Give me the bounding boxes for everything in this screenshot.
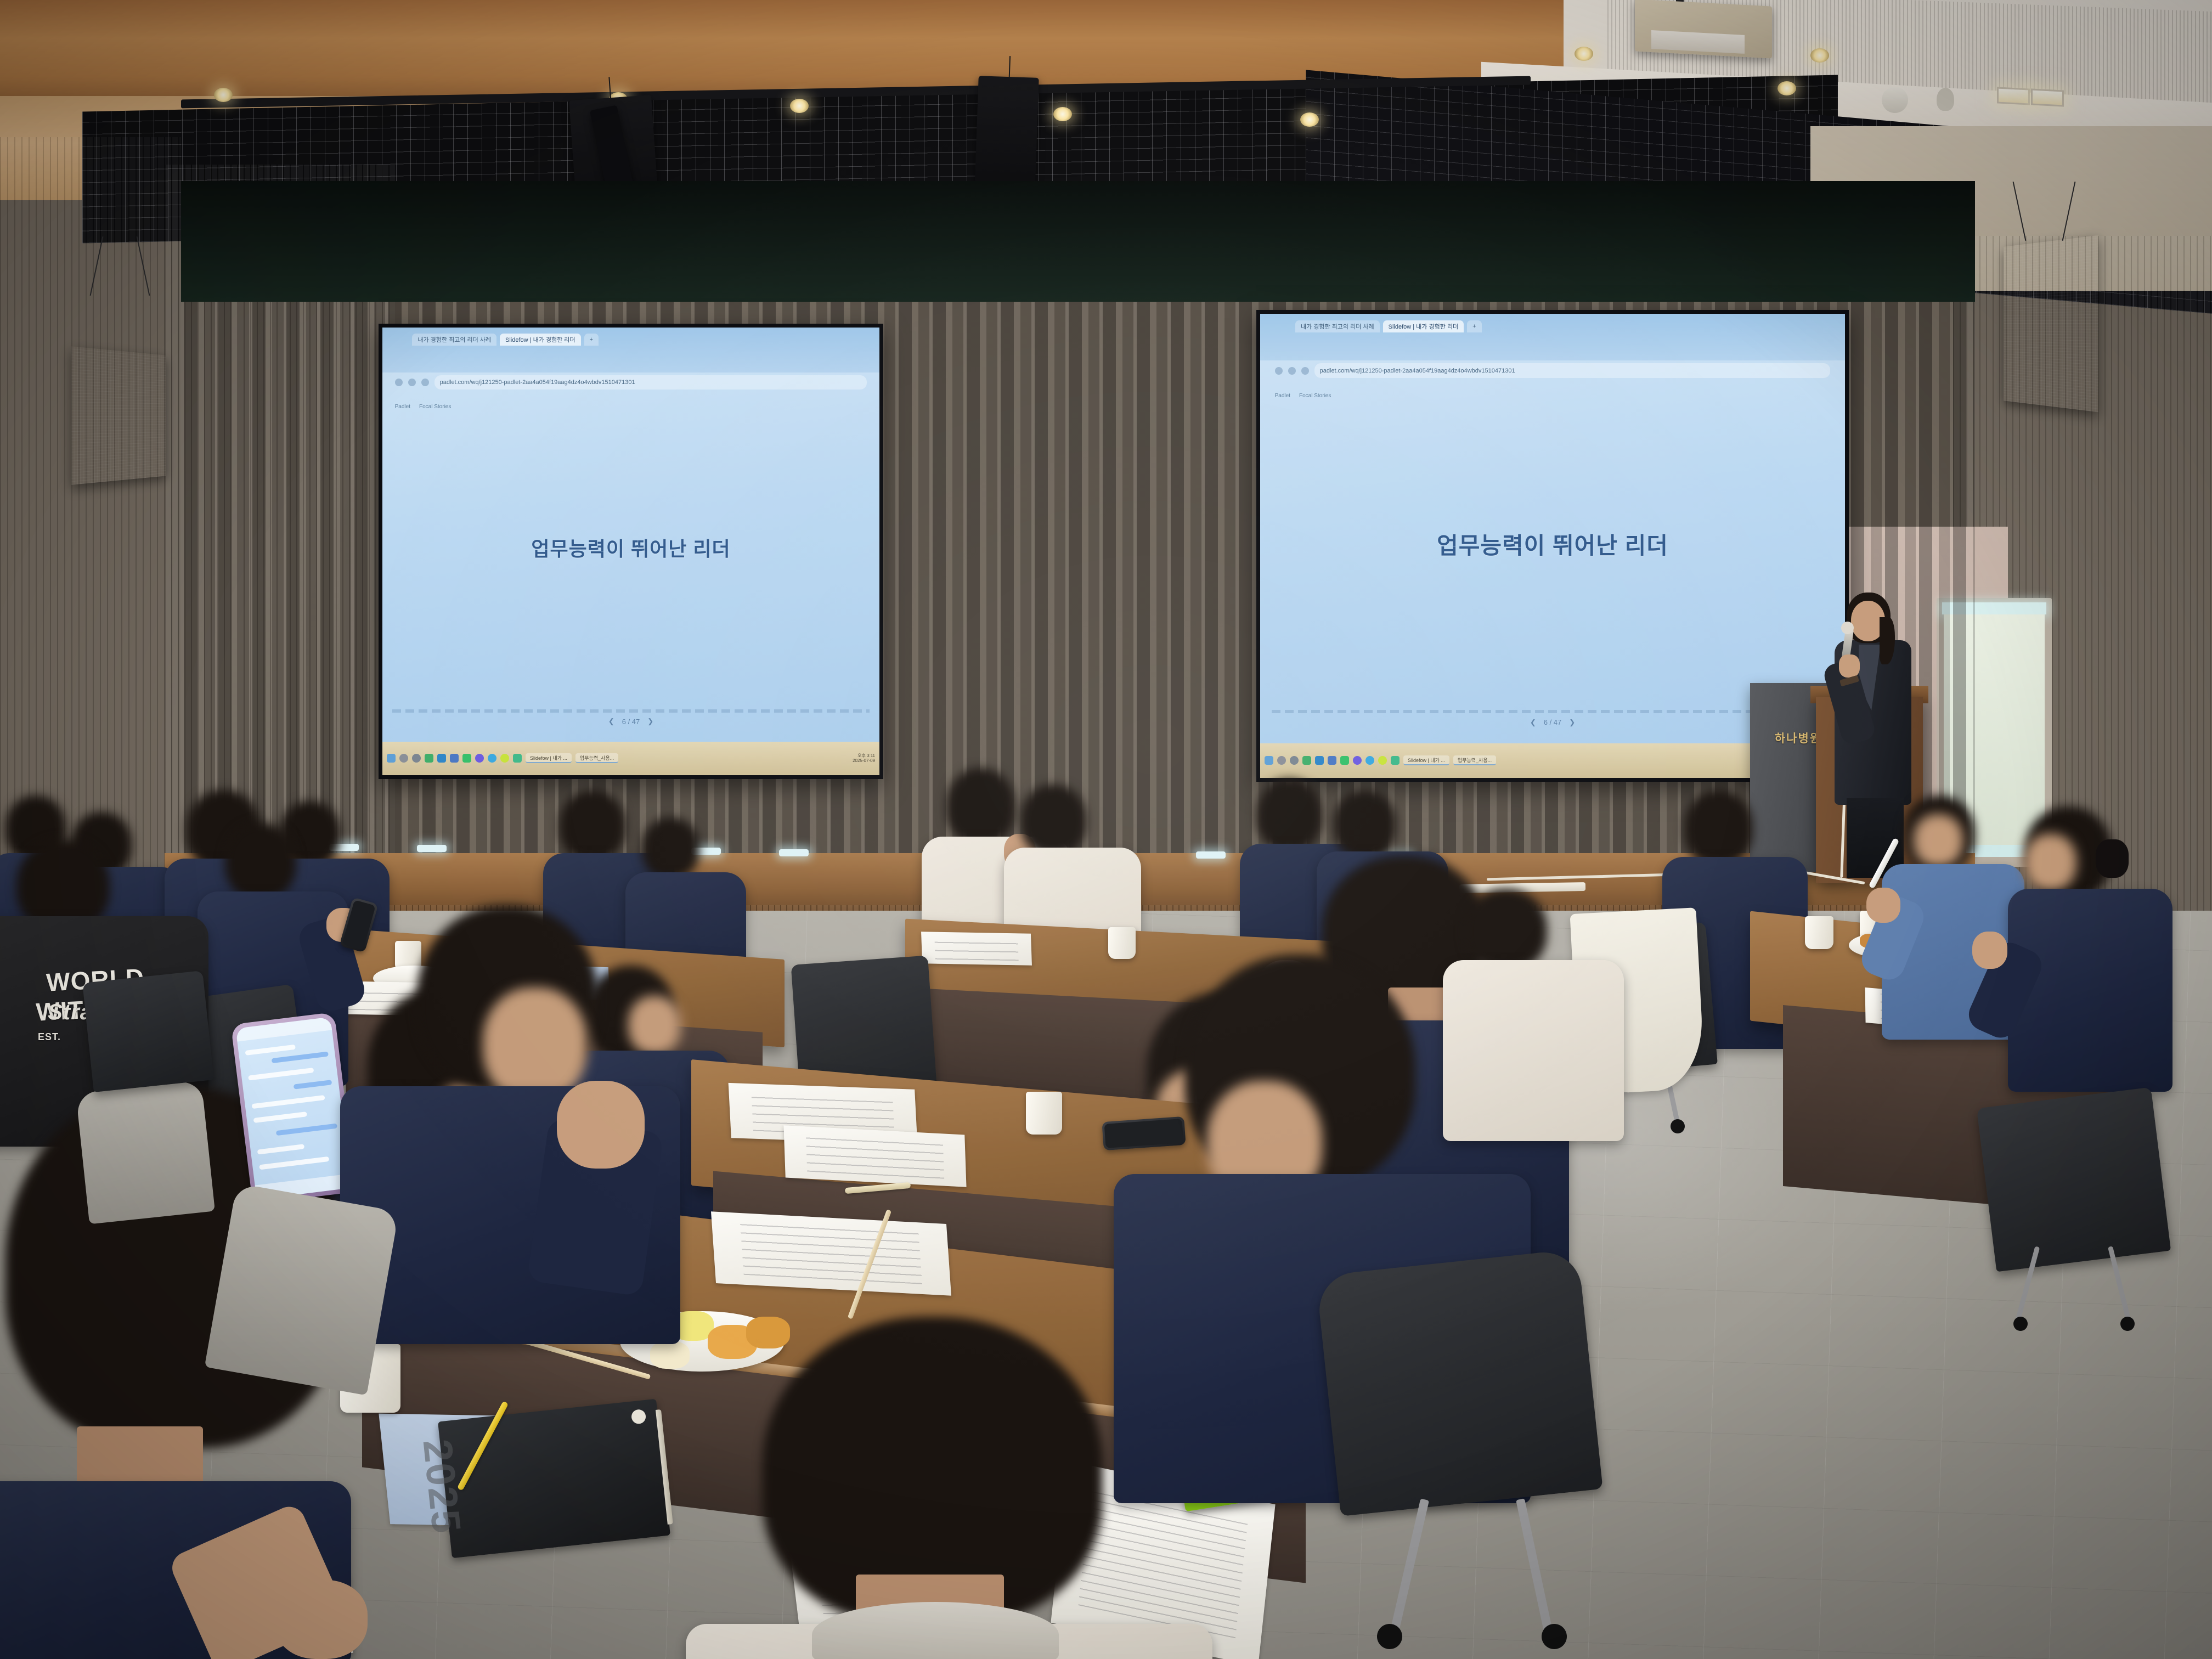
recessed-ceiling-light: [1997, 87, 2030, 105]
attendee-face-blurred: [2024, 834, 2076, 891]
chat-bubble: [248, 1068, 314, 1081]
chair-caster: [2013, 1317, 2028, 1331]
stage-light-fixture: [974, 76, 1039, 196]
new-tab-button[interactable]: +: [584, 334, 599, 346]
next-slide-icon[interactable]: ❯: [1569, 718, 1575, 727]
taskbar-app-icon[interactable]: [1340, 756, 1349, 765]
browser-address-row: padlet.com/wq/j121250-padlet-2aa4a054f19…: [395, 373, 867, 393]
browser-tabstrip: 내가 경험한 최고의 리더 사례 Slidefow | 내가 경험한 리더 +: [1295, 320, 1482, 332]
attendee-hand: [274, 1580, 368, 1659]
attendee-hair-tie: [2096, 839, 2129, 878]
chat-bubble: [253, 1111, 307, 1123]
slide-navigation: ❮ 6 / 47 ❯: [382, 717, 879, 726]
paper-handout: [711, 1211, 951, 1295]
attendee-face-blurred: [483, 988, 587, 1103]
ceiling-spotlight: [1053, 107, 1072, 121]
taskbar-app-icon[interactable]: [1328, 756, 1336, 765]
ceiling-projector: [1635, 0, 1772, 59]
address-bar[interactable]: padlet.com/wq/j121250-padlet-2aa4a054f19…: [435, 375, 867, 390]
seminar-room-photo: 내가 경험한 최고의 리더 사례 Slidefow | 내가 경험한 리더 + …: [0, 0, 2212, 1659]
ceiling-spotlight: [214, 88, 233, 102]
right-pa-speaker: [2004, 235, 2098, 412]
prev-slide-icon[interactable]: ❮: [608, 717, 614, 726]
taskbar-window-button[interactable]: Slidefow | 내가 ...: [526, 753, 572, 763]
forward-icon[interactable]: [1288, 367, 1296, 375]
browser-address-row: padlet.com/wq/j121250-padlet-2aa4a054f19…: [1275, 360, 1831, 381]
taskbar-app-icon[interactable]: [1302, 756, 1311, 765]
stage-curtain-shadow: [181, 181, 1975, 302]
bookmarks-bar: Padlet Focal Stories: [1275, 393, 1331, 399]
bookmark-item[interactable]: Padlet: [395, 404, 410, 410]
taskbar-clock[interactable]: 오후 3:11 2025-07-09: [853, 753, 875, 764]
taskbar-window-button[interactable]: 업무능력_사용...: [575, 753, 618, 763]
back-icon[interactable]: [1275, 367, 1283, 375]
slide-counter: 6 / 47: [622, 718, 640, 726]
browser-tab-active[interactable]: Slidefow | 내가 경험한 리더: [500, 334, 581, 346]
black-planner-2025[interactable]: 2025: [438, 1399, 670, 1558]
attendee-torso: [2008, 889, 2172, 1092]
taskbar-app-icon[interactable]: [450, 754, 459, 763]
browser-tab[interactable]: 내가 경험한 최고의 리더 사례: [412, 334, 496, 346]
taskbar-app-icon[interactable]: [1365, 756, 1374, 765]
taskbar-search-icon[interactable]: [1277, 756, 1286, 765]
browser-tab[interactable]: 내가 경험한 최고의 리더 사례: [1295, 320, 1380, 332]
prev-slide-icon[interactable]: ❮: [1530, 718, 1536, 727]
taskbar-app-icon[interactable]: [513, 754, 522, 763]
stage-floor-light: [1196, 851, 1226, 859]
attendee-head: [560, 790, 625, 861]
browser-tab-active[interactable]: Slidefow | 내가 경험한 리더: [1383, 320, 1464, 332]
office-chair-foreground[interactable]: [1316, 1249, 1602, 1516]
taskbar-window-button[interactable]: Slidefow | 내가 ...: [1403, 755, 1449, 765]
attendee-hand: [1972, 932, 2007, 969]
taskbar-taskview-icon[interactable]: [412, 754, 421, 763]
browser-tabstrip: 내가 경험한 최고의 리더 사례 Slidefow | 내가 경험한 리더 +: [412, 334, 599, 346]
bookmark-item[interactable]: Padlet: [1275, 393, 1290, 399]
attendee-head: [1333, 790, 1396, 859]
taskbar-app-icon[interactable]: [1315, 756, 1324, 765]
attendee-closest-white-shirt: [675, 1317, 1223, 1659]
slide-counter: 6 / 47: [1544, 718, 1562, 726]
taskbar-app-icon[interactable]: [488, 754, 496, 763]
taskbar-taskview-icon[interactable]: [1290, 756, 1299, 765]
grey-chair-foreground[interactable]: [205, 1183, 399, 1396]
presenter-hand: [1839, 654, 1860, 678]
paper-handout: [783, 1125, 966, 1187]
chat-bubble: [245, 1045, 296, 1056]
office-chair[interactable]: [82, 970, 214, 1092]
attendee-head: [1020, 785, 1086, 856]
grey-chair[interactable]: [76, 1080, 215, 1224]
chair-caster: [1377, 1624, 1402, 1649]
microphone-head-icon: [1841, 622, 1854, 634]
planner-brand-icon: [631, 1409, 647, 1425]
ceiling-sprinkler: [1937, 88, 1954, 111]
stage-floor-light: [417, 845, 447, 852]
ceiling-spotlight: [790, 99, 809, 113]
bookmark-item[interactable]: Focal Stories: [419, 404, 451, 410]
new-tab-button[interactable]: +: [1467, 320, 1481, 332]
ceiling-spotlight: [1778, 81, 1796, 95]
attendee-face-blurred: [1914, 814, 1963, 867]
attendee-hand: [1866, 888, 1900, 923]
attendee-head: [225, 823, 296, 900]
left-projection-screen: 내가 경험한 최고의 리더 사례 Slidefow | 내가 경험한 리더 + …: [379, 324, 883, 779]
attendee-head: [946, 768, 1015, 845]
slide-footer-text: [392, 709, 870, 713]
taskbar-search-icon[interactable]: [399, 754, 408, 763]
taskbar-app-icon[interactable]: [437, 754, 446, 763]
forward-icon[interactable]: [408, 379, 416, 386]
bookmarks-bar: Padlet Focal Stories: [395, 404, 452, 410]
ceiling-smoke-detector: [1882, 87, 1908, 113]
taskbar-window-button[interactable]: 업무능력_사용...: [1453, 755, 1496, 765]
left-screen-image: 내가 경험한 최고의 리더 사례 Slidefow | 내가 경험한 리더 + …: [382, 328, 879, 775]
taskbar-start-icon[interactable]: [1265, 756, 1273, 765]
paper-cup: [1805, 916, 1833, 949]
taskbar-app-icon[interactable]: [1391, 756, 1400, 765]
next-slide-icon[interactable]: ❯: [647, 717, 653, 726]
left-pa-speaker: [71, 346, 166, 484]
recessed-ceiling-light: [2031, 88, 2064, 106]
chair-caster: [1542, 1624, 1567, 1649]
office-chair[interactable]: [1977, 1087, 2171, 1272]
attendee-head: [1256, 779, 1322, 851]
ceiling-spotlight: [1300, 112, 1319, 127]
tshirt-print-line3: EST.: [25, 1031, 74, 1043]
chair-caster: [2120, 1317, 2135, 1331]
taskbar-app-icon[interactable]: [462, 754, 471, 763]
attendee-head: [642, 817, 699, 879]
taskbar-app-icon[interactable]: [475, 754, 484, 763]
slide-headline: 업무능력이 뛰어난 리더: [382, 533, 879, 562]
paper-handout: [921, 932, 1032, 966]
windows-taskbar: Slidefow | 내가 ... 업무능력_사용... 오후 3:11 202…: [382, 742, 879, 775]
attendee-head: [1684, 790, 1753, 866]
ceiling-spotlight: [1810, 48, 1829, 63]
slide-footer-text: [1272, 710, 1833, 713]
ceiling-spotlight: [1575, 47, 1593, 61]
taskbar-app-icon[interactable]: [500, 754, 509, 763]
projector-lens: [1651, 30, 1745, 54]
attendee-right-table-3: [2002, 806, 2189, 1092]
reload-icon[interactable]: [1301, 367, 1309, 375]
slide-headline: 업무능력이 뛰어난 리더: [1260, 527, 1845, 561]
reload-icon[interactable]: [421, 379, 429, 386]
chat-bubble: [257, 1144, 304, 1154]
attendee-hand-on-chin: [557, 1081, 645, 1169]
taskbar-app-icon[interactable]: [1353, 756, 1362, 765]
back-icon[interactable]: [395, 379, 403, 386]
paper-cup: [1026, 1092, 1062, 1135]
taskbar-start-icon[interactable]: [387, 754, 396, 763]
address-bar[interactable]: padlet.com/wq/j121250-padlet-2aa4a054f19…: [1314, 363, 1831, 378]
bookmark-item[interactable]: Focal Stories: [1299, 393, 1331, 399]
taskbar-app-icon[interactable]: [425, 754, 433, 763]
taskbar-app-icon[interactable]: [1378, 756, 1387, 765]
